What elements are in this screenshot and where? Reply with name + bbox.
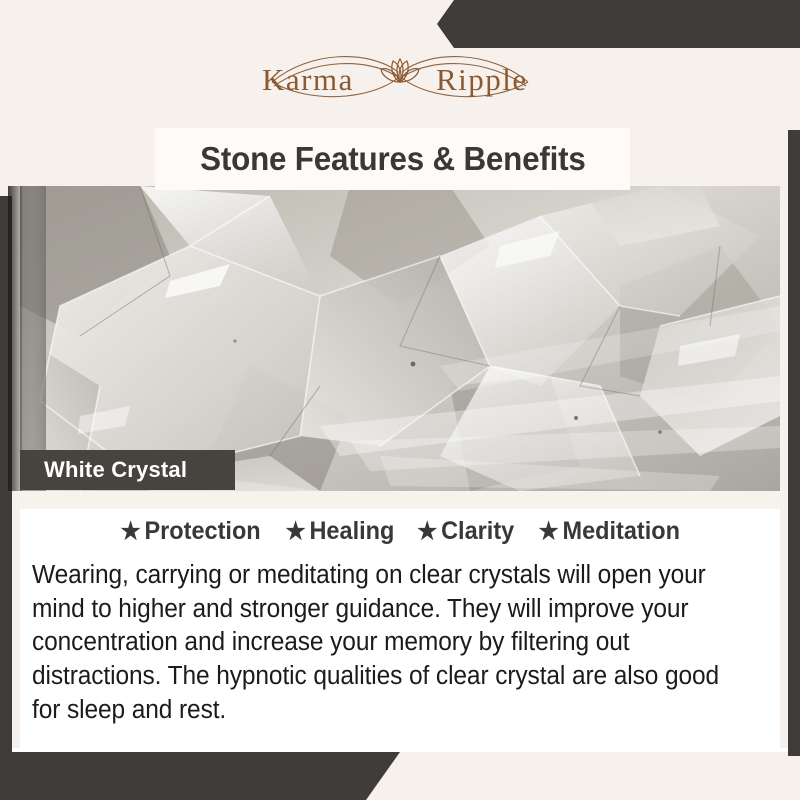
frame-edge-right	[788, 44, 800, 756]
feature-item: ★Protection	[120, 517, 260, 546]
feature-label: Clarity	[441, 517, 514, 545]
star-icon: ★	[417, 518, 437, 545]
description-text: Wearing, carrying or meditating on clear…	[32, 559, 740, 727]
star-icon: ★	[120, 518, 140, 545]
corner-wedge-top-right	[420, 0, 800, 48]
content-top-tint	[20, 491, 780, 509]
star-icon: ★	[538, 518, 558, 545]
crystal-photo	[20, 186, 780, 491]
feature-item: ★Healing	[285, 517, 394, 546]
page-title: Stone Features & Benefits	[200, 140, 585, 178]
stone-name-label: White Crystal	[44, 457, 187, 483]
infographic-card: Karma Ripple Stone Features & Benefits W…	[0, 0, 800, 800]
feature-label: Protection	[144, 517, 260, 545]
feature-item: ★Meditation	[538, 517, 679, 546]
stone-name-banner: White Crystal	[20, 450, 235, 490]
feature-label: Meditation	[562, 517, 680, 545]
star-icon: ★	[285, 518, 305, 545]
brand-name-left: Karma	[262, 62, 354, 97]
title-band: Stone Features & Benefits	[155, 128, 630, 190]
photo-edge-shadow	[8, 186, 22, 491]
corner-wedge-bottom-left	[0, 752, 400, 800]
brand-name-right: Ripple	[436, 62, 528, 97]
features-row: ★Protection ★Healing ★Clarity ★Meditatio…	[20, 517, 780, 546]
feature-item: ★Clarity	[417, 517, 514, 546]
content-panel: ★Protection ★Healing ★Clarity ★Meditatio…	[20, 491, 780, 752]
brand-logo: Karma Ripple	[0, 42, 800, 109]
brand-logo-svg: Karma Ripple	[240, 42, 560, 104]
feature-label: Healing	[309, 517, 394, 545]
